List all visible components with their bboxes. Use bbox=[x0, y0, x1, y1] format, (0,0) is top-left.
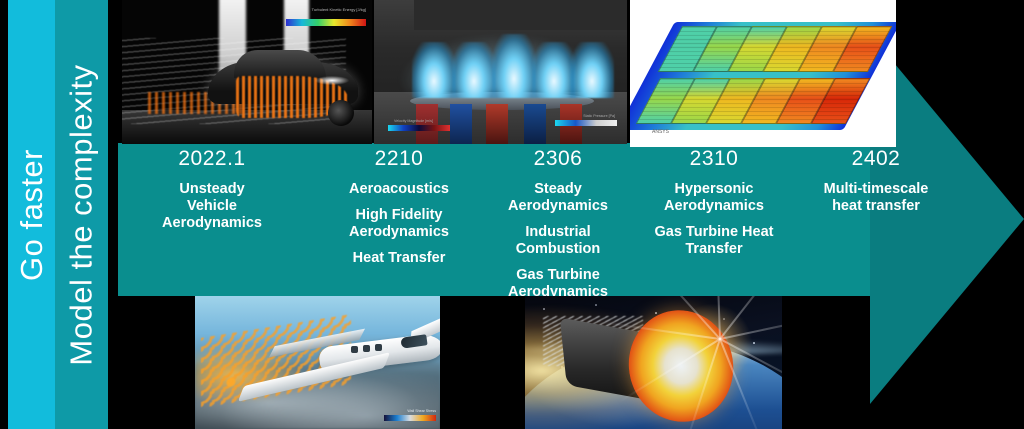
colorbar-left-label: Velocity Magnitude [m/s] bbox=[394, 119, 433, 123]
milestone-topic-line: Unsteady bbox=[179, 181, 244, 197]
flame-plume bbox=[412, 42, 456, 98]
milestone-topic: Multi-timescale heat transfer bbox=[808, 181, 944, 215]
milestone-date: 2210 bbox=[316, 147, 482, 171]
milestone-column-2306: 2306 Steady Aerodynamics Industrial Comb… bbox=[484, 147, 632, 310]
jet-window bbox=[351, 346, 358, 353]
milestone-column-2022-1: 2022.1 Unsteady Vehicle Aerodynamics bbox=[134, 147, 290, 241]
milestone-column-2402: 2402 Multi-timescale heat transfer bbox=[792, 147, 960, 224]
milestone-topic: Industrial Combustion bbox=[504, 224, 612, 258]
milestone-date: 2310 bbox=[634, 147, 794, 171]
image-battery-thermal-simulation: ANSYS bbox=[630, 0, 896, 147]
colorbar-label: Wall Shear Stress bbox=[407, 409, 436, 413]
milestone-topic-line: Vehicle bbox=[187, 198, 237, 214]
image-business-jet-aerodynamics: Wall Shear Stress bbox=[195, 296, 440, 429]
milestone-topic: Steady Aerodynamics bbox=[498, 181, 618, 215]
thermal-image-caption: ANSYS bbox=[652, 129, 669, 135]
slide-canvas: Go faster Model the complexity Turbulent… bbox=[0, 0, 1024, 429]
milestone-date: 2022.1 bbox=[134, 147, 290, 171]
car-roof bbox=[234, 50, 326, 78]
injector-duct bbox=[524, 104, 546, 144]
axis-label-go-faster: Go faster bbox=[8, 0, 55, 429]
milestone-topic-line: Aerodynamics bbox=[162, 215, 262, 231]
milestone-topic: Aeroacoustics bbox=[316, 181, 482, 198]
headlight-glow bbox=[315, 76, 349, 85]
milestone-topic: High Fidelity Aerodynamics bbox=[340, 207, 458, 241]
flame-plume bbox=[452, 42, 496, 98]
jet-window bbox=[363, 345, 370, 352]
milestone-topic: Heat Transfer bbox=[316, 250, 482, 267]
rig-backwall bbox=[414, 0, 627, 30]
injector-duct bbox=[416, 104, 438, 144]
colorbar-right-label: Static Pressure [Pa] bbox=[583, 114, 615, 118]
axis-label-model-complexity-text: Model the complexity bbox=[64, 64, 100, 365]
image-aeroacoustics-combustor-cfd: Velocity Magnitude [m/s] Static Pressure… bbox=[374, 0, 627, 144]
milestone-date: 2306 bbox=[484, 147, 632, 171]
image-vehicle-aerodynamics-cfd: Turbulent Kinetic Energy [J/kg] bbox=[122, 0, 372, 144]
colorbar-icon bbox=[384, 415, 436, 421]
colorbar-left-icon bbox=[388, 125, 450, 131]
jet-window bbox=[375, 344, 382, 351]
colorbar-right-icon bbox=[555, 120, 617, 126]
car-wheel bbox=[328, 100, 354, 126]
milestone-topic: Hypersonic Aerodynamics bbox=[650, 181, 778, 215]
milestone-column-2210: 2210 Aeroacoustics High Fidelity Aerodyn… bbox=[316, 147, 482, 276]
axis-label-model-complexity: Model the complexity bbox=[55, 0, 108, 429]
milestone-topic: Gas Turbine Heat Transfer bbox=[640, 224, 788, 258]
image-hypersonic-reentry-vehicle bbox=[525, 296, 782, 429]
milestone-column-2310: 2310 Hypersonic Aerodynamics Gas Turbine… bbox=[634, 147, 794, 267]
colorbar-icon bbox=[286, 19, 366, 26]
milestone-date: 2402 bbox=[792, 147, 960, 171]
injector-duct bbox=[450, 104, 472, 144]
milestone-topic: Unsteady Vehicle Aerodynamics bbox=[134, 181, 290, 232]
axis-label-go-faster-text: Go faster bbox=[14, 149, 50, 281]
flame-plume bbox=[492, 34, 536, 98]
injector-duct bbox=[486, 104, 508, 144]
flame-plume bbox=[570, 42, 614, 98]
colorbar-label: Turbulent Kinetic Energy [J/kg] bbox=[270, 7, 366, 15]
